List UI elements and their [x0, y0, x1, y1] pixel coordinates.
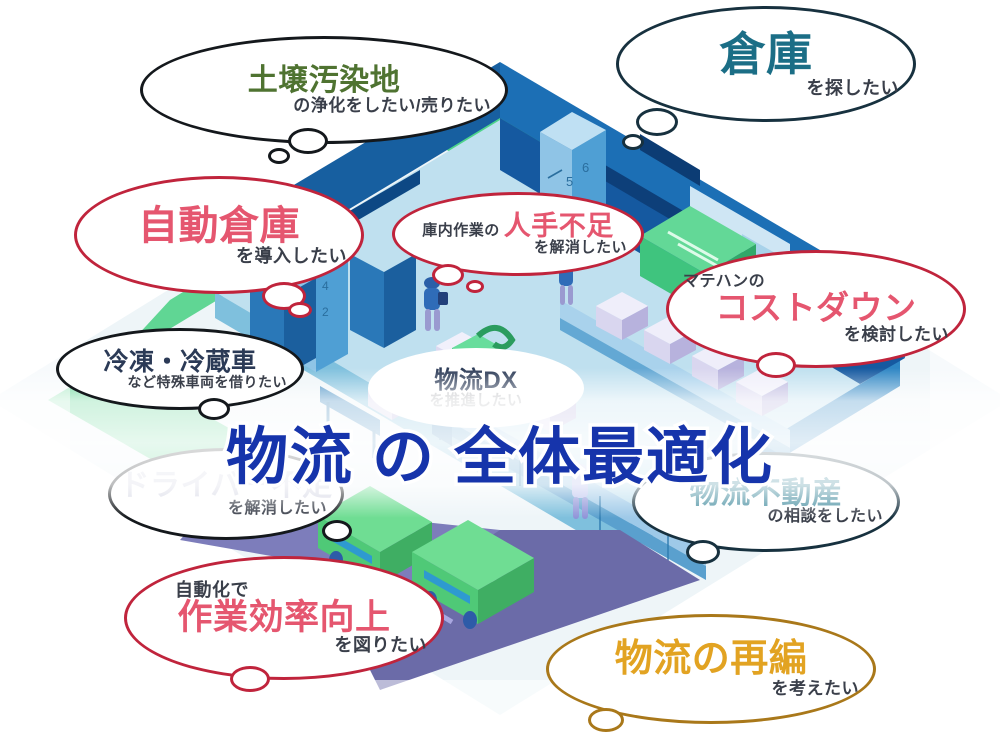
bubble-work-efficiency[interactable]: 自動化で 作業効率向上 を図りたい [124, 556, 444, 680]
infographic-canvas: 6 5 4 3 4 2 1 [0, 0, 1000, 750]
headline-part2: 全体最適化 [454, 423, 774, 492]
svg-text:6: 6 [582, 160, 589, 175]
bubble-driver-shortage-tail [322, 520, 352, 542]
bubble-warehouse-search-tail [636, 108, 678, 136]
bubble-refrigerated-truck-tail [198, 398, 230, 420]
bubble-work-efficiency-pre: 自動化で [175, 581, 249, 600]
bubble-logistics-reorg-post: を考えたい [772, 680, 860, 698]
bubble-soil-contamination-tail [288, 128, 328, 154]
bubble-warehouse-search-main: 倉庫 [720, 30, 813, 78]
bubble-work-efficiency-post: を図りたい [335, 636, 428, 655]
bubble-cost-down-main: コストダウン [716, 291, 917, 326]
bubble-warehouse-search-tail-small [622, 134, 644, 150]
bubble-warehouse-search[interactable]: 倉庫 を探したい [616, 6, 916, 122]
bubble-labor-shortage-row: 庫内作業の 人手不足 [422, 212, 614, 240]
bubble-automated-warehouse-post: を導入したい [236, 247, 347, 266]
bubble-logistics-reorg[interactable]: 物流の再編 を考えたい [546, 614, 876, 724]
bubble-soil-contamination-post: の浄化をしたい/売りたい [293, 97, 491, 115]
bubble-refrigerated-truck-main: 冷凍・冷蔵車 [103, 349, 256, 375]
bubble-work-efficiency-main: 作業効率向上 [177, 600, 390, 637]
headline-part1: 物流 [226, 423, 354, 492]
bubble-cost-down[interactable]: マテハンの コストダウン を検討したい [666, 250, 966, 368]
bubble-labor-shortage-tail [432, 264, 464, 286]
bubble-work-efficiency-tail [230, 666, 270, 692]
bubble-labor-shortage-main: 人手不足 [504, 212, 614, 240]
bubble-labor-shortage-tail-small [466, 280, 484, 293]
bubble-logistics-real-estate-post: の相談をしたい [767, 509, 883, 526]
bubble-labor-shortage-post: を解消したい [534, 240, 627, 256]
bubble-automated-warehouse[interactable]: 自動倉庫 を導入したい [74, 176, 364, 294]
bubble-automated-warehouse-main: 自動倉庫 [138, 205, 300, 247]
bubble-warehouse-search-post: を探したい [807, 79, 900, 98]
bubble-automated-warehouse-tail-small [288, 302, 312, 318]
bubble-driver-shortage-post: を解消したい [228, 501, 327, 518]
bubble-refrigerated-truck[interactable]: 冷凍・冷蔵車 など特殊車両を借りたい [56, 328, 304, 410]
bubble-labor-shortage[interactable]: 庫内作業の 人手不足 を解消したい [392, 192, 644, 276]
bubble-labor-shortage-pre: 庫内作業の [422, 223, 500, 239]
bubble-soil-contamination-tail-small [268, 148, 290, 164]
bubble-logistics-real-estate-tail [686, 540, 720, 564]
bubble-refrigerated-truck-post: など特殊車両を借りたい [128, 375, 288, 390]
bubble-logistics-dx-main: 物流DX [434, 368, 517, 393]
bubble-soil-contamination-main: 土壌汚染地 [248, 65, 401, 97]
headline-particle: の [372, 423, 436, 492]
svg-text:2: 2 [322, 305, 329, 319]
bubble-logistics-reorg-main: 物流の再編 [615, 640, 808, 680]
bubble-cost-down-tail [756, 352, 796, 378]
bubble-soil-contamination[interactable]: 土壌汚染地 の浄化をしたい/売りたい [140, 36, 508, 144]
svg-text:4: 4 [322, 279, 329, 293]
bubble-logistics-reorg-tail [588, 708, 624, 732]
svg-text:5: 5 [566, 174, 573, 189]
page-headline: 物流の全体最適化 [0, 406, 1000, 496]
bubble-cost-down-post: を検討したい [844, 326, 949, 344]
